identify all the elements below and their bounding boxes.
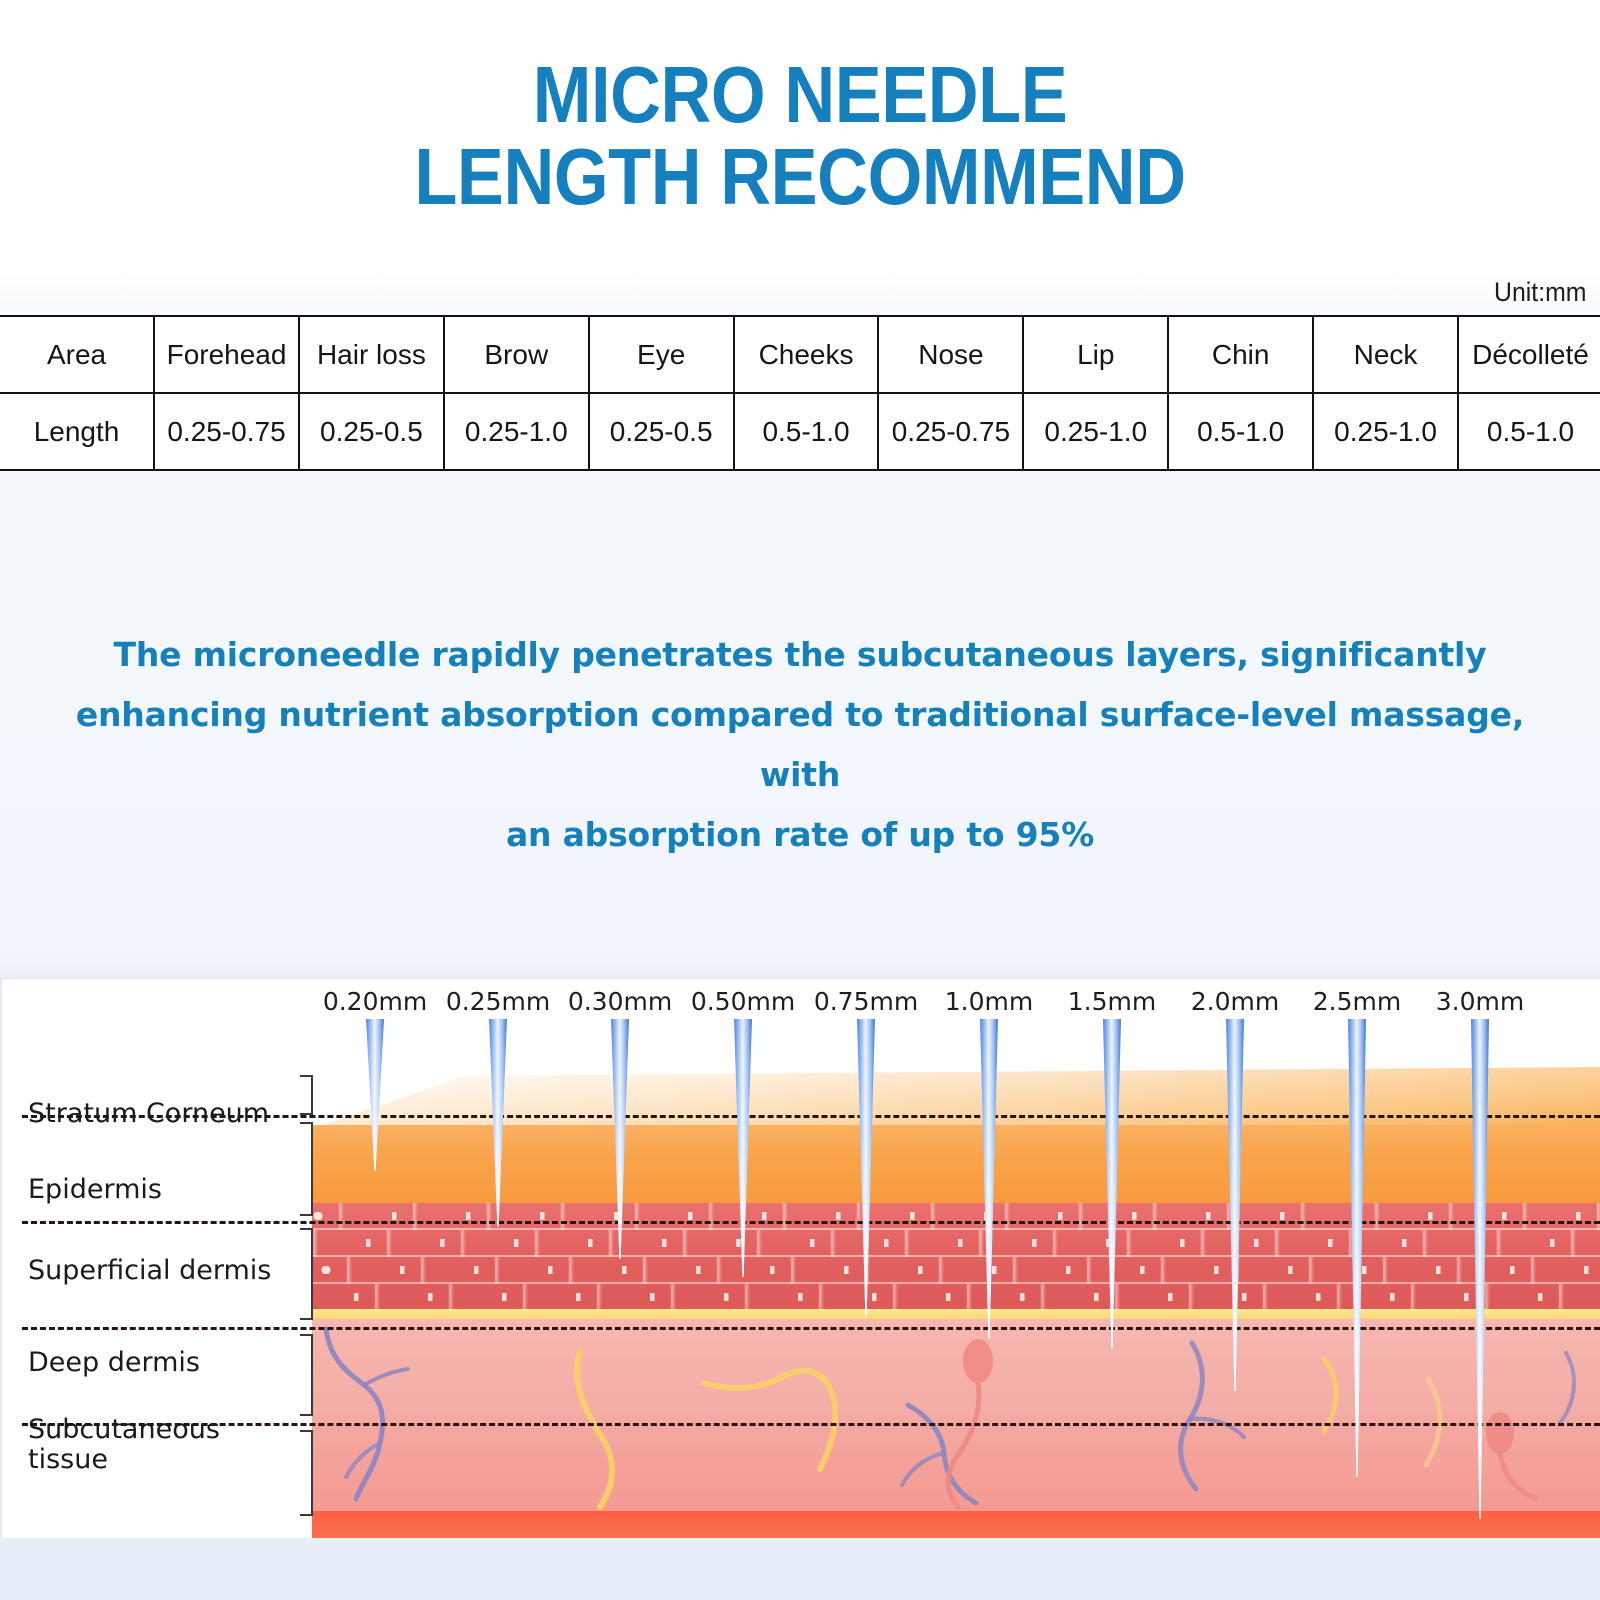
table-cell-length-hair-loss: 0.25-0.5 — [299, 393, 444, 470]
needle-label-2-5mm: 2.5mm — [1313, 987, 1401, 1016]
bracket-epidermis — [300, 1122, 313, 1216]
label-superficial-dermis: Superficial dermis — [28, 1256, 271, 1286]
table-header-length: Length — [0, 393, 154, 470]
table-cell-length-nose: 0.25-0.75 — [878, 393, 1023, 470]
table-cell-area-cheeks: Cheeks — [734, 316, 879, 393]
table-cell-area-decollete: Décolleté — [1458, 316, 1600, 393]
table-cell-length-chin: 0.5-1.0 — [1168, 393, 1313, 470]
infographic-page: MICRO NEEDLE LENGTH RECOMMEND Unit:mm Ar… — [0, 0, 1600, 1600]
needle-label-0-30mm: 0.30mm — [568, 987, 672, 1016]
needle-label-2-0mm: 2.0mm — [1191, 987, 1279, 1016]
table-header-area: Area — [0, 316, 154, 393]
boundary-epidermis — [22, 1221, 1600, 1224]
layer-subcutaneous-tissue — [312, 1511, 1600, 1538]
layer-stratum-corneum — [312, 1125, 1600, 1203]
promo-line-3: an absorption rate of up to 95% — [55, 805, 1545, 865]
needle-label-0-20mm: 0.20mm — [323, 987, 427, 1016]
needle-label-0-75mm: 0.75mm — [814, 987, 918, 1016]
boundary-superficial-dermis — [22, 1327, 1600, 1330]
page-title-line-1: MICRO NEEDLE — [96, 56, 1504, 134]
dermis-vessels-illustration — [312, 1319, 1600, 1511]
promo-line-2: enhancing nutrient absorption compared t… — [55, 685, 1545, 805]
page-title-line-2: LENGTH RECOMMEND — [96, 138, 1504, 216]
epidermis-cell-row — [312, 1257, 1600, 1284]
bracket-stratum-corneum — [300, 1075, 313, 1115]
table-row-length: Length 0.25-0.75 0.25-0.5 0.25-1.0 0.25-… — [0, 393, 1600, 470]
table-cell-area-lip: Lip — [1023, 316, 1168, 393]
label-deep-dermis: Deep dermis — [28, 1348, 200, 1378]
table-cell-area-brow: Brow — [444, 316, 589, 393]
label-subcutaneous-tissue: Subcutaneous tissue — [28, 1415, 220, 1475]
table-row-area: Area Forehead Hair loss Brow Eye Cheeks … — [0, 316, 1600, 393]
table-cell-area-neck: Neck — [1313, 316, 1458, 393]
epidermis-cell-row — [312, 1203, 1600, 1230]
label-epidermis: Epidermis — [28, 1175, 162, 1205]
boundary-deep-dermis — [22, 1423, 1600, 1426]
bracket-subcutaneous-tissue — [300, 1430, 313, 1516]
promo-paragraph: The microneedle rapidly penetrates the s… — [55, 625, 1545, 865]
skin-penetration-diagram: Stratum Corneum Epidermis Superficial de… — [0, 978, 1600, 1538]
table-cell-length-lip: 0.25-1.0 — [1023, 393, 1168, 470]
table-cell-area-forehead: Forehead — [154, 316, 299, 393]
bracket-deep-dermis — [300, 1334, 313, 1416]
table-cell-area-nose: Nose — [878, 316, 1023, 393]
needle-label-3-0mm: 3.0mm — [1436, 987, 1524, 1016]
bracket-superficial-dermis — [300, 1228, 313, 1320]
needle-label-1-0mm: 1.0mm — [945, 987, 1033, 1016]
promo-line-1: The microneedle rapidly penetrates the s… — [55, 625, 1545, 685]
table-cell-length-eye: 0.25-0.5 — [589, 393, 734, 470]
table-cell-length-forehead: 0.25-0.75 — [154, 393, 299, 470]
table-cell-length-neck: 0.25-1.0 — [1313, 393, 1458, 470]
table-cell-area-eye: Eye — [589, 316, 734, 393]
table-cell-length-brow: 0.25-1.0 — [444, 393, 589, 470]
table-cell-length-cheeks: 0.5-1.0 — [734, 393, 879, 470]
skin-surface-bevel — [312, 1067, 1600, 1129]
needle-label-0-50mm: 0.50mm — [691, 987, 795, 1016]
needle-label-1-5mm: 1.5mm — [1068, 987, 1156, 1016]
table-cell-area-hair-loss: Hair loss — [299, 316, 444, 393]
unit-note: Unit:mm — [1494, 277, 1586, 308]
label-stratum-corneum: Stratum Corneum — [28, 1099, 269, 1129]
basement-membrane — [312, 1309, 1600, 1319]
needle-length-table: Area Forehead Hair loss Brow Eye Cheeks … — [0, 315, 1600, 471]
table-cell-length-decollete: 0.5-1.0 — [1458, 393, 1600, 470]
epidermis-cell-row — [312, 1230, 1600, 1257]
skin-cross-section — [312, 1067, 1600, 1538]
layer-epidermis — [312, 1203, 1600, 1309]
needle-label-0-25mm: 0.25mm — [446, 987, 550, 1016]
epidermis-cell-row — [312, 1284, 1594, 1309]
table-cell-area-chin: Chin — [1168, 316, 1313, 393]
page-title: MICRO NEEDLE LENGTH RECOMMEND — [0, 56, 1600, 217]
